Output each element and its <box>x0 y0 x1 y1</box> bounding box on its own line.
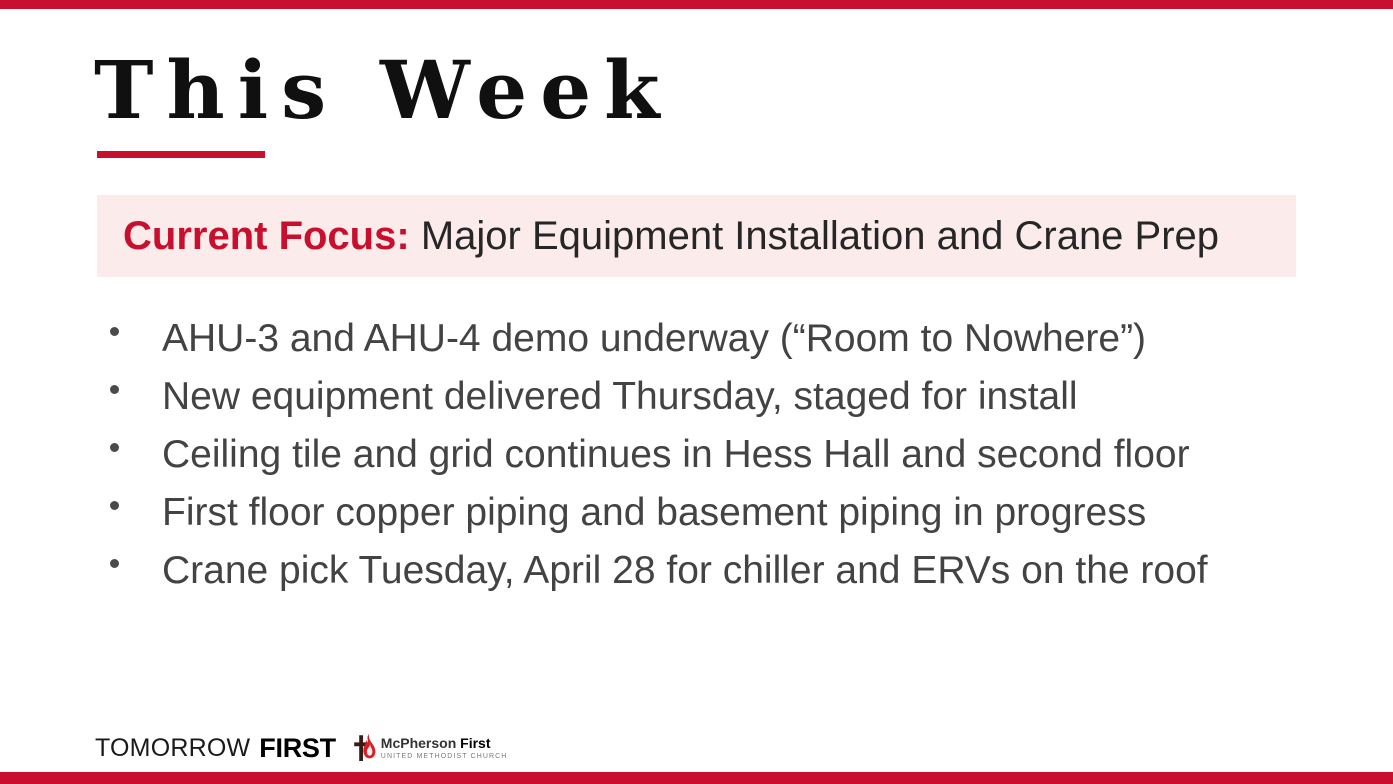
list-item: First floor copper piping and basement p… <box>97 484 1337 542</box>
list-item-label: Crane pick Tuesday, April 28 for chiller… <box>162 548 1208 594</box>
church-name: McPherson First <box>381 736 508 751</box>
church-name-first: McPherson <box>381 735 460 751</box>
list-item: New equipment delivered Thursday, staged… <box>97 368 1337 426</box>
current-focus-text: Major Equipment Installation and Crane P… <box>421 214 1219 258</box>
current-focus-banner: Current Focus: Major Equipment Installat… <box>97 195 1296 277</box>
united-methodist-church-logo: McPherson First UNITED METHODIST CHURCH <box>350 733 508 763</box>
top-accent-bar <box>0 0 1393 9</box>
list-item-label: New equipment delivered Thursday, staged… <box>162 374 1078 420</box>
list-item: AHU-3 and AHU-4 demo underway (“Room to … <box>97 310 1337 368</box>
umc-wordmark: McPherson First UNITED METHODIST CHURCH <box>381 736 508 761</box>
list-item-label: AHU-3 and AHU-4 demo underway (“Room to … <box>162 316 1146 362</box>
bullet-dot-icon <box>110 443 119 452</box>
bottom-accent-bar <box>0 772 1393 784</box>
list-item: Ceiling tile and grid continues in Hess … <box>97 426 1337 484</box>
bullet-dot-icon <box>110 327 119 336</box>
page-title: This Week <box>94 42 673 138</box>
list-item: Crane pick Tuesday, April 28 for chiller… <box>97 542 1337 600</box>
current-focus-line: Current Focus: Major Equipment Installat… <box>123 212 1219 260</box>
current-focus-label: Current Focus: <box>123 214 410 258</box>
slide-canvas: This Week Current Focus: Major Equipment… <box>0 0 1393 784</box>
church-name-second: First <box>460 735 490 751</box>
bullet-dot-icon <box>110 559 119 568</box>
bullet-list: AHU-3 and AHU-4 demo underway (“Room to … <box>97 310 1337 600</box>
list-item-label: Ceiling tile and grid continues in Hess … <box>162 432 1190 478</box>
cross-and-flame-icon <box>350 733 376 763</box>
list-item-label: First floor copper piping and basement p… <box>162 490 1146 536</box>
footer-logo-lockup: TOMORROW FIRST McPherson First UNITED ME… <box>95 730 507 766</box>
campaign-word-first: FIRST <box>259 734 336 762</box>
bullet-dot-icon <box>110 385 119 394</box>
campaign-word-tomorrow: TOMORROW <box>95 734 250 762</box>
bullet-dot-icon <box>110 501 119 510</box>
church-subtitle: UNITED METHODIST CHURCH <box>381 752 508 761</box>
title-underline-rule <box>97 151 265 158</box>
